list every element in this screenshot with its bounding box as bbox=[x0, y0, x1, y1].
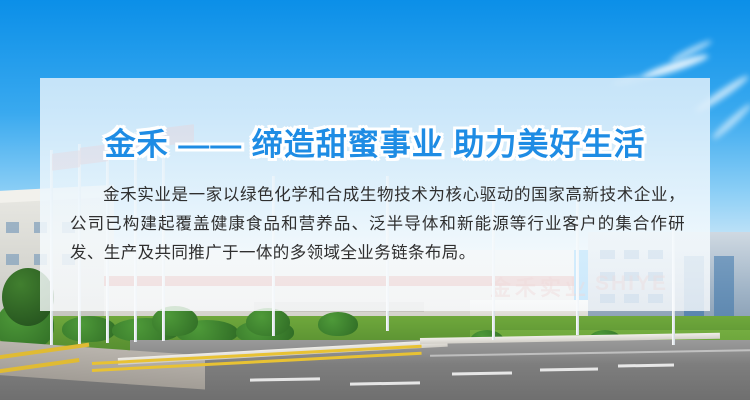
window bbox=[6, 254, 19, 265]
window bbox=[6, 222, 19, 233]
shrub bbox=[318, 312, 358, 336]
glass-panel bbox=[714, 256, 734, 316]
banner-title: 金禾 —— 缔造甜蜜事业 助力美好生活 bbox=[40, 123, 710, 167]
company-promo-banner: 金禾实业 SHIYE bbox=[0, 0, 750, 400]
banner-description: 金禾实业是一家以绿色化学和合成生物技术为核心驱动的国家高新技术企业，公司已构建起… bbox=[70, 181, 685, 268]
shrub bbox=[246, 308, 290, 336]
